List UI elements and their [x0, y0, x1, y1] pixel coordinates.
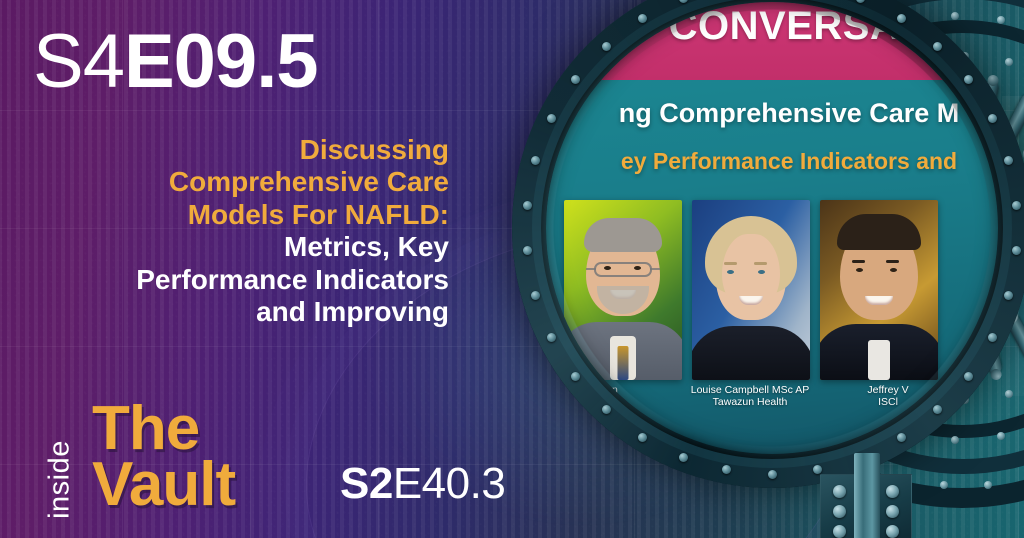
headline-line-5: Performance Indicators	[0, 264, 449, 296]
episode-headline: Discussing Comprehensive Care Models For…	[0, 134, 455, 329]
vault-bolt	[531, 291, 540, 300]
podcast-cover-canvas: CONVERSAT ng Comprehensive Care M ey Per…	[0, 0, 1024, 538]
vault-bolt	[679, 453, 688, 462]
vault-bolt	[523, 246, 532, 255]
vault-bolt	[523, 201, 532, 210]
slide-banner-text: CONVERSAT	[669, 4, 922, 49]
speaker-org-2: Tawazun Health	[686, 396, 814, 408]
episode-number-top: S4E09.5	[33, 24, 318, 100]
webinar-slide: CONVERSAT ng Comprehensive Care M ey Per…	[546, 2, 998, 454]
speaker-caption-row: on Louise Campbell MSc AP Tawazun Health…	[548, 384, 998, 409]
vault-bolt	[964, 75, 973, 84]
slide-banner: CONVERSAT	[546, 2, 998, 80]
vault-bolt	[1004, 156, 1013, 165]
episode-season-top: S4	[33, 19, 124, 104]
show-logo: inside The Vault S2E40.3	[28, 378, 548, 518]
vault-mechanism-bolt	[984, 481, 992, 489]
headline-line-3: Models For NAFLD:	[0, 199, 449, 231]
headline-line-1: Discussing	[0, 134, 449, 166]
vault-mechanism-bolt	[940, 481, 948, 489]
logo-inside-word: inside	[44, 420, 77, 538]
headline-line-6: and Improving	[0, 296, 449, 328]
vault-bolt	[722, 465, 731, 474]
vault-bolt	[897, 433, 906, 442]
vault-bolt	[988, 333, 997, 342]
vault-bolt	[531, 156, 540, 165]
vault-bolt	[571, 372, 580, 381]
episode-season-bottom: S2	[340, 459, 393, 508]
vault-bolt	[813, 465, 822, 474]
speaker-photo-1	[564, 200, 682, 380]
logo-vault-word: Vault	[92, 454, 235, 516]
speaker-name-2: Louise Campbell MSc AP	[686, 384, 814, 396]
episode-code-bottom: E40.3	[393, 459, 505, 508]
speaker-caption-1: on	[548, 384, 676, 409]
speaker-photo-2	[692, 200, 810, 380]
speaker-caption-2: Louise Campbell MSc AP Tawazun Health	[686, 384, 814, 409]
vault-bolt	[988, 114, 997, 123]
slide-title: ng Comprehensive Care M	[546, 98, 998, 129]
vault-door-plate: CONVERSAT ng Comprehensive Care M ey Per…	[512, 0, 1024, 488]
vault-bolt	[933, 42, 942, 51]
speaker-photo-3	[820, 200, 938, 380]
vault-bolt	[602, 405, 611, 414]
vault-bolt	[1012, 201, 1021, 210]
vault-porthole: CONVERSAT ng Comprehensive Care M ey Per…	[546, 2, 998, 454]
headline-line-4: Metrics, Key	[0, 231, 449, 263]
slide-subtitle: ey Performance Indicators and	[546, 148, 998, 175]
speaker-name-3: Jeffrey V	[824, 384, 952, 396]
speaker-caption-3: Jeffrey V ISCl	[824, 384, 952, 409]
vault-bolt	[1004, 291, 1013, 300]
vault-bolt	[602, 42, 611, 51]
vault-mechanism-bolt	[1005, 390, 1013, 398]
headline-line-2: Comprehensive Care	[0, 166, 449, 198]
episode-code-top: E09.5	[124, 19, 318, 104]
speaker-photo-row	[564, 200, 998, 380]
episode-number-bottom: S2E40.3	[340, 462, 505, 506]
vault-hinge-bottom	[820, 474, 912, 538]
speaker-name-1: on	[548, 384, 676, 396]
vault-bolt	[964, 372, 973, 381]
vault-bolt	[1012, 246, 1021, 255]
vault-bolt	[638, 433, 647, 442]
vault-bolt	[768, 470, 777, 479]
